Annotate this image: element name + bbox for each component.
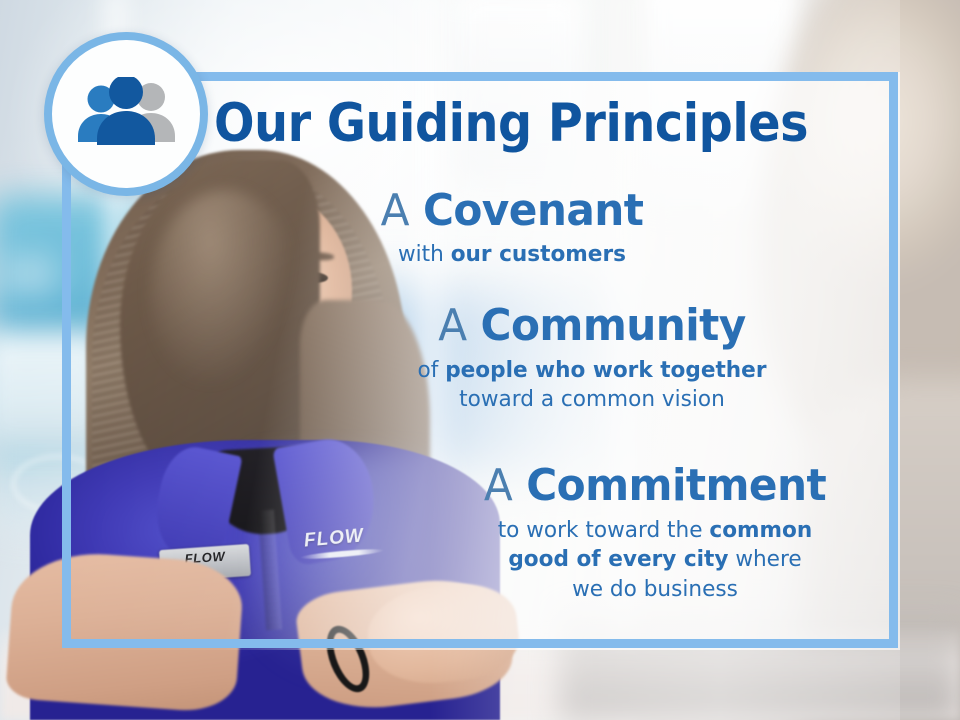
principle-community-bold-1: people who work together (445, 357, 766, 383)
principle-covenant-keyword: Covenant (423, 185, 643, 236)
principle-community-subline-1: of people who work together (400, 356, 784, 386)
principle-community-subline-2: toward a common vision (400, 385, 784, 415)
principle-community-lead: A (438, 300, 480, 351)
principle-commitment-subline-3: we do business (449, 575, 862, 605)
principle-covenant-subline-1: with our customers (358, 240, 665, 270)
principle-covenant: A Covenant with our customers (352, 188, 672, 269)
principle-covenant-heading: A Covenant (358, 188, 665, 234)
principle-commitment-subline-1: to work toward the common (449, 516, 862, 546)
principle-commitment-bold-2: good of every city (508, 546, 728, 572)
principle-covenant-bold-1: our customers (451, 241, 626, 267)
principle-commitment-subtext: to work toward the common good of every … (449, 516, 862, 605)
principle-community-subtext: of people who work together toward a com… (400, 356, 784, 415)
people-group-badge (44, 32, 208, 196)
principle-covenant-subtext: with our customers (358, 240, 665, 270)
desk-surface-right (560, 610, 960, 720)
poster-canvas: FLOW FLOW (0, 0, 960, 720)
arm-left (5, 548, 245, 714)
principle-commitment-heading: A Commitment (449, 463, 862, 509)
principle-covenant-lead: A (381, 185, 423, 236)
principle-commitment-keyword: Commitment (526, 460, 826, 511)
principle-community-heading: A Community (400, 303, 784, 349)
principle-commitment-bold-1: common (709, 517, 812, 543)
page-title: Our Guiding Principles (214, 97, 808, 150)
principle-commitment-subline-2: good of every city where (449, 545, 862, 575)
principle-commitment: A Commitment to work toward the common g… (440, 463, 870, 605)
hair-sheen (150, 190, 300, 400)
principle-community-keyword: Community (481, 300, 746, 351)
principle-commitment-lead: A (484, 460, 526, 511)
people-group-icon (70, 77, 182, 151)
principle-community: A Community of people who work together … (392, 303, 792, 415)
